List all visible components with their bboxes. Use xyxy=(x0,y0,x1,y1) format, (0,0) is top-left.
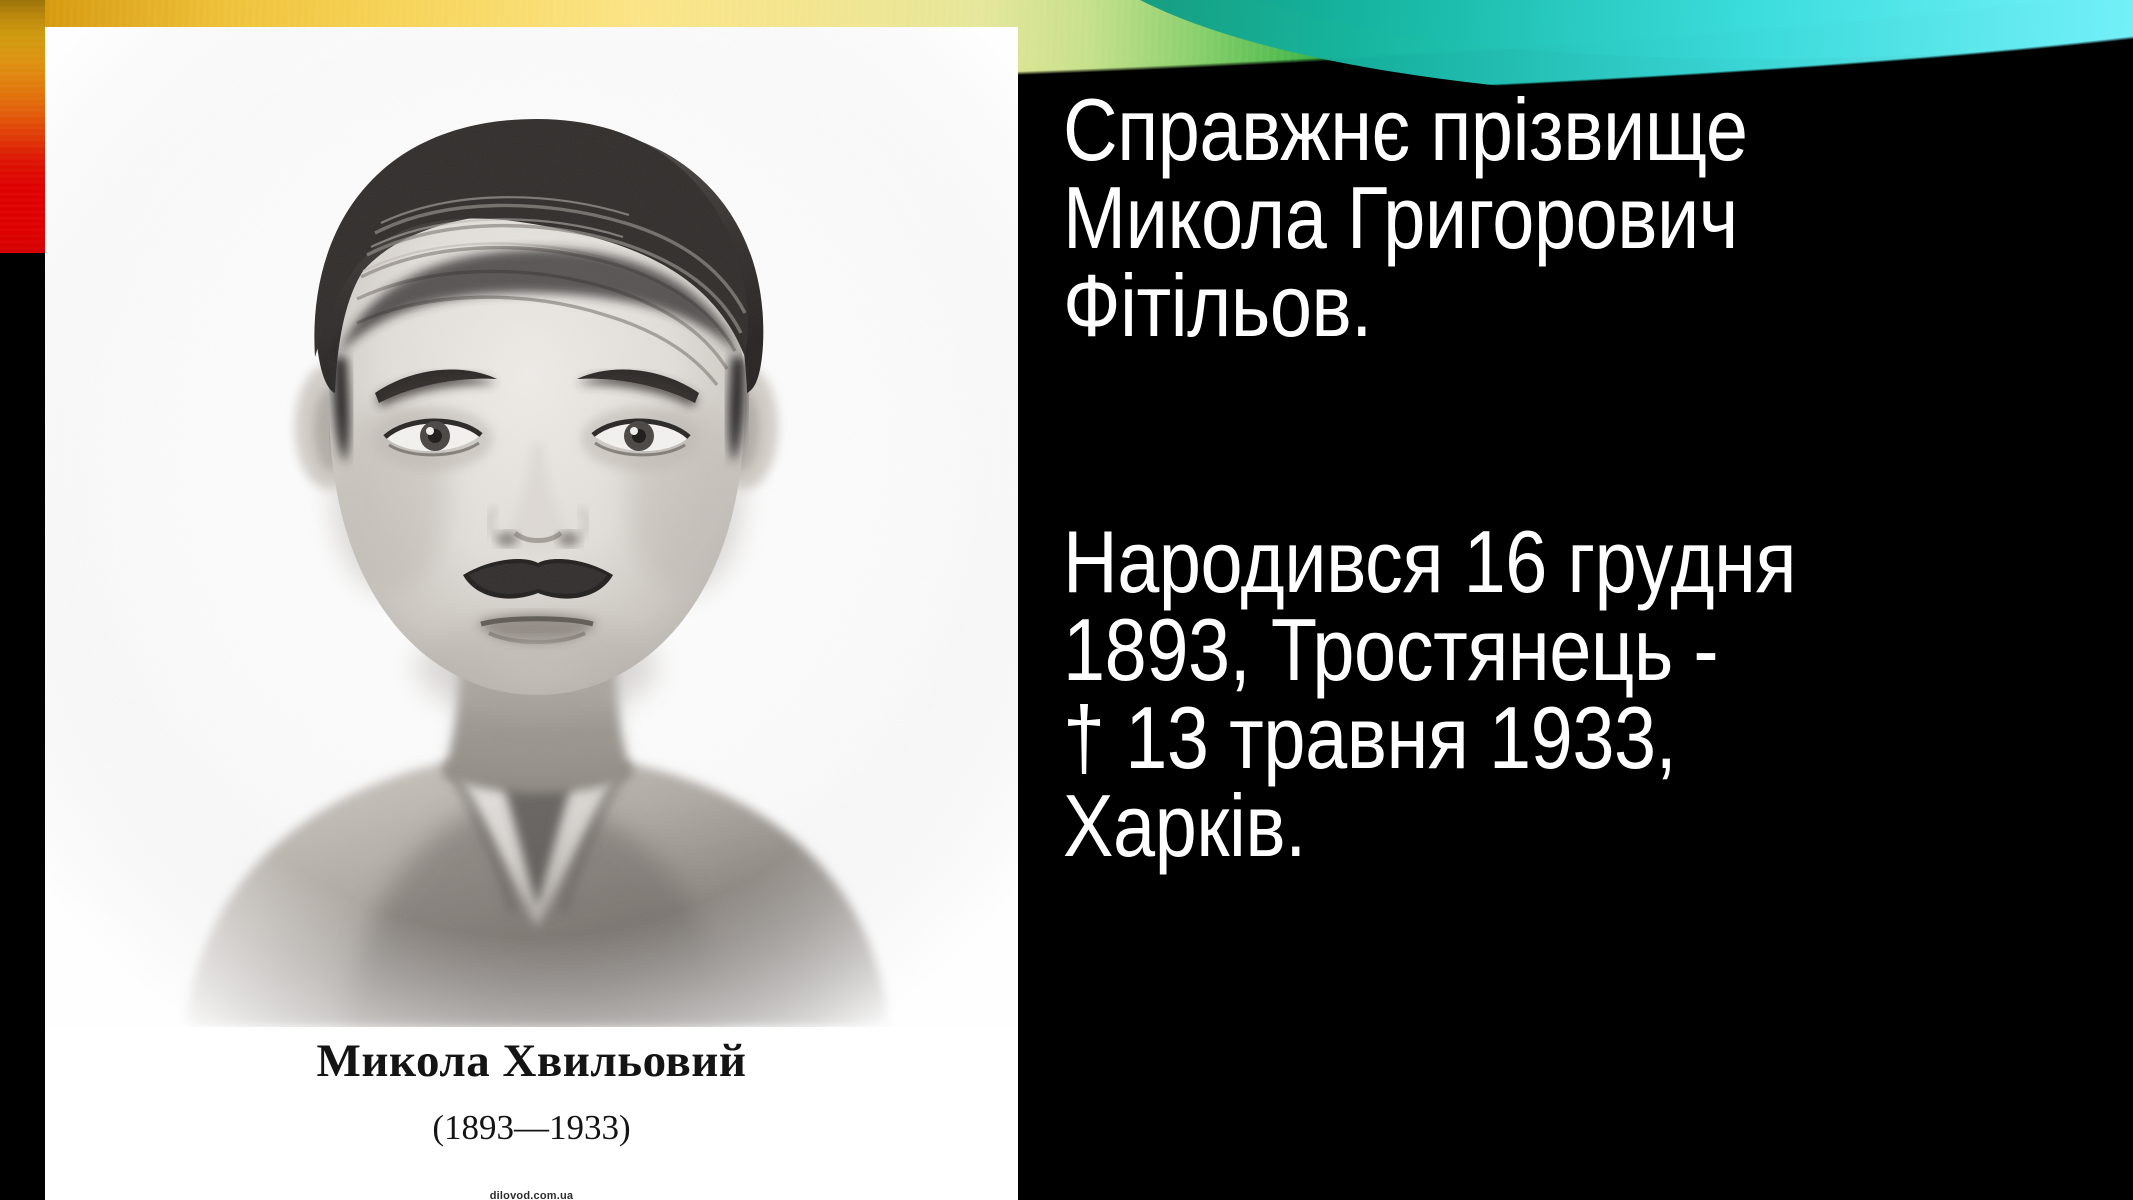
text-column: Справжнє прізвище Микола Григорович Фіті… xyxy=(1063,86,2083,870)
paragraph-real-surname: Справжнє прізвище Микола Григорович Фіті… xyxy=(1063,86,1940,350)
paragraph-spacer xyxy=(1063,350,2083,518)
portrait-of-mykola-khvylovy xyxy=(45,27,1018,1027)
left-accent-strip xyxy=(0,0,45,253)
paragraph-birth-death: Народився 16 грудня 1893, Тростянець - †… xyxy=(1063,518,1940,870)
portrait-image xyxy=(45,27,1018,1027)
portrait-caption-years: (1893—1933) xyxy=(45,1110,1018,1145)
slide-canvas: Микола Хвильовий (1893—1933) dilovod.com… xyxy=(0,0,2133,1200)
photo-card: Микола Хвильовий (1893—1933) dilovod.com… xyxy=(45,27,1018,1200)
left-accent-strip-striations xyxy=(0,0,45,253)
source-watermark: dilovod.com.ua xyxy=(45,1190,1018,1200)
portrait-caption-name: Микола Хвильовий xyxy=(45,1038,1018,1085)
